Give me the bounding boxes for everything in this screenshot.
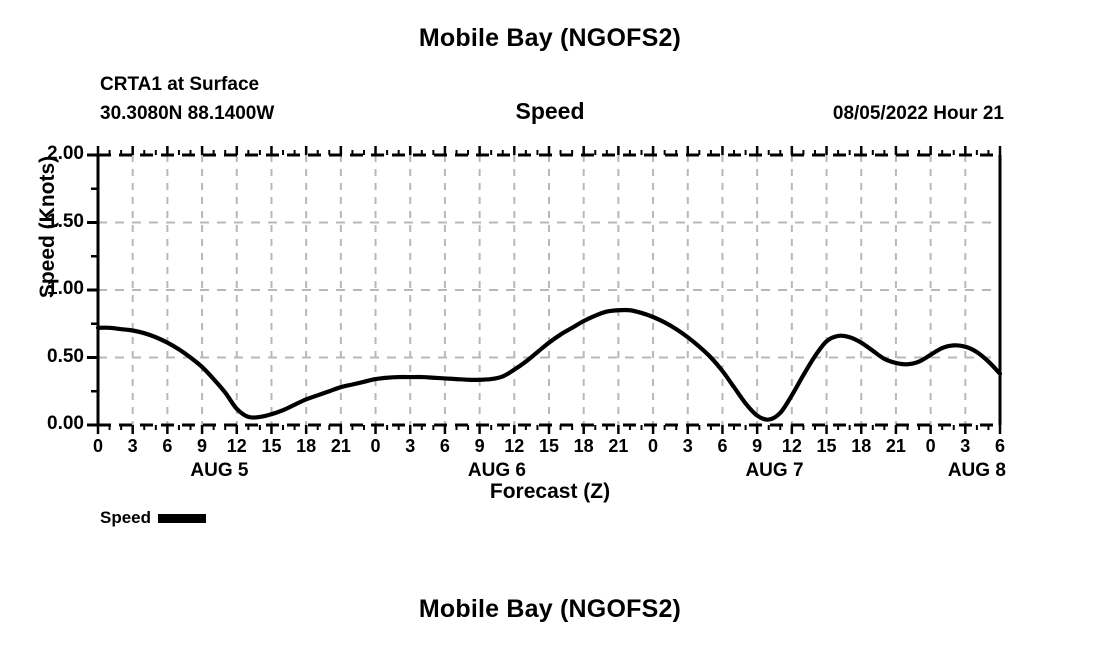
chart-page: Mobile Bay (NGOFS2) CRTA1 at Surface 30.… bbox=[0, 0, 1100, 650]
day-label: AUG 5 bbox=[159, 460, 279, 482]
y-tick-label: 0.50 bbox=[14, 346, 84, 368]
legend: Speed bbox=[100, 508, 206, 528]
page-title-bottom: Mobile Bay (NGOFS2) bbox=[0, 595, 1100, 624]
day-label: AUG 6 bbox=[437, 460, 557, 482]
legend-label-speed: Speed bbox=[100, 508, 151, 528]
chart-svg bbox=[0, 0, 1100, 650]
legend-swatch-speed bbox=[158, 514, 206, 523]
y-tick-label: 0.00 bbox=[14, 413, 84, 435]
gridlines bbox=[98, 155, 1000, 425]
y-tick-label: 1.50 bbox=[14, 211, 84, 233]
plot-area: Speed (Knots) Forecast (Z) 0.000.501.001… bbox=[0, 0, 1100, 650]
day-label: AUG 8 bbox=[917, 460, 1037, 482]
x-tick-label: 6 bbox=[980, 436, 1020, 457]
day-label: AUG 7 bbox=[715, 460, 835, 482]
x-axis-title: Forecast (Z) bbox=[0, 480, 1100, 504]
y-tick-label: 1.00 bbox=[14, 278, 84, 300]
y-tick-label: 2.00 bbox=[14, 143, 84, 165]
